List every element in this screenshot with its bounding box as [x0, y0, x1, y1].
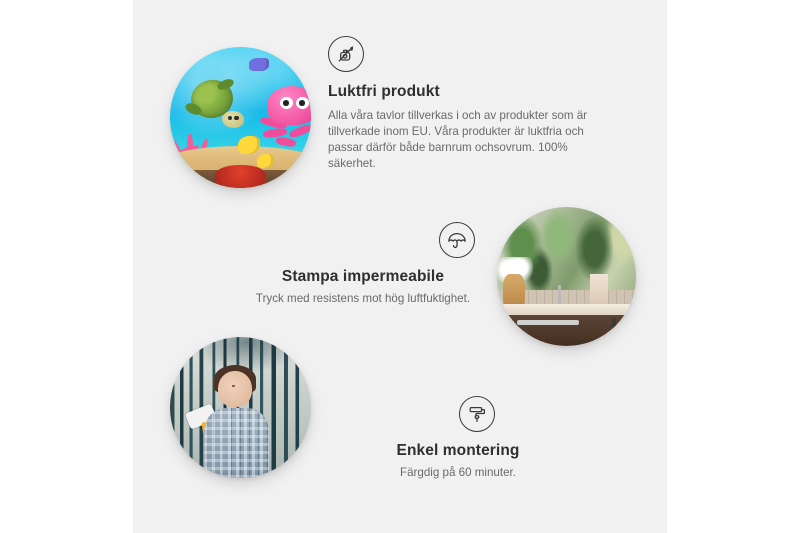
- infographic-panel: Luktfri produkt Alla våra tavlor tillver…: [133, 0, 667, 533]
- woman-face: [218, 371, 252, 408]
- crab-icon: [215, 165, 266, 188]
- feature-title: Luktfri produkt: [328, 83, 618, 101]
- photo-woman-roller-forest-mural: [170, 337, 311, 478]
- wood-vanity-cabinet: [505, 315, 636, 346]
- paint-roller-icon: [459, 396, 495, 432]
- feature-waterproof-print: Stampa impermeabile Tryck med resistens …: [193, 222, 533, 307]
- feature-body: Tryck med resistens mot hög luftfuktighe…: [193, 291, 533, 307]
- photo-bathroom-leaf-mural: [497, 207, 636, 346]
- bathroom-scene-art: [497, 207, 636, 346]
- forest-scene-art: [170, 337, 311, 478]
- octopus-icon: [257, 86, 311, 151]
- no-odour-spray-bottle-icon: [328, 36, 364, 72]
- umbrella-icon: [439, 222, 475, 258]
- photo-underwater-kids-mural: [170, 47, 311, 188]
- feature-title: Stampa impermeabile: [193, 268, 533, 286]
- infographic-stage: Luktfri produkt Alla våra tavlor tillver…: [0, 0, 800, 533]
- sea-turtle-icon: [184, 78, 240, 129]
- underwater-scene-art: [170, 47, 311, 188]
- feature-body: Alla våra tavlor tillverkas i och av pro…: [328, 108, 618, 172]
- feature-odour-free: Luktfri produkt Alla våra tavlor tillver…: [328, 36, 618, 172]
- woman-torso: [204, 408, 269, 479]
- feature-body: Färgdig på 60 minuter.: [328, 465, 588, 481]
- feature-easy-mounting: Enkel montering Färgdig på 60 minuter.: [328, 396, 588, 481]
- faucet-icon: [558, 285, 561, 306]
- blue-fish-icon: [249, 58, 269, 71]
- feature-title: Enkel montering: [328, 442, 588, 460]
